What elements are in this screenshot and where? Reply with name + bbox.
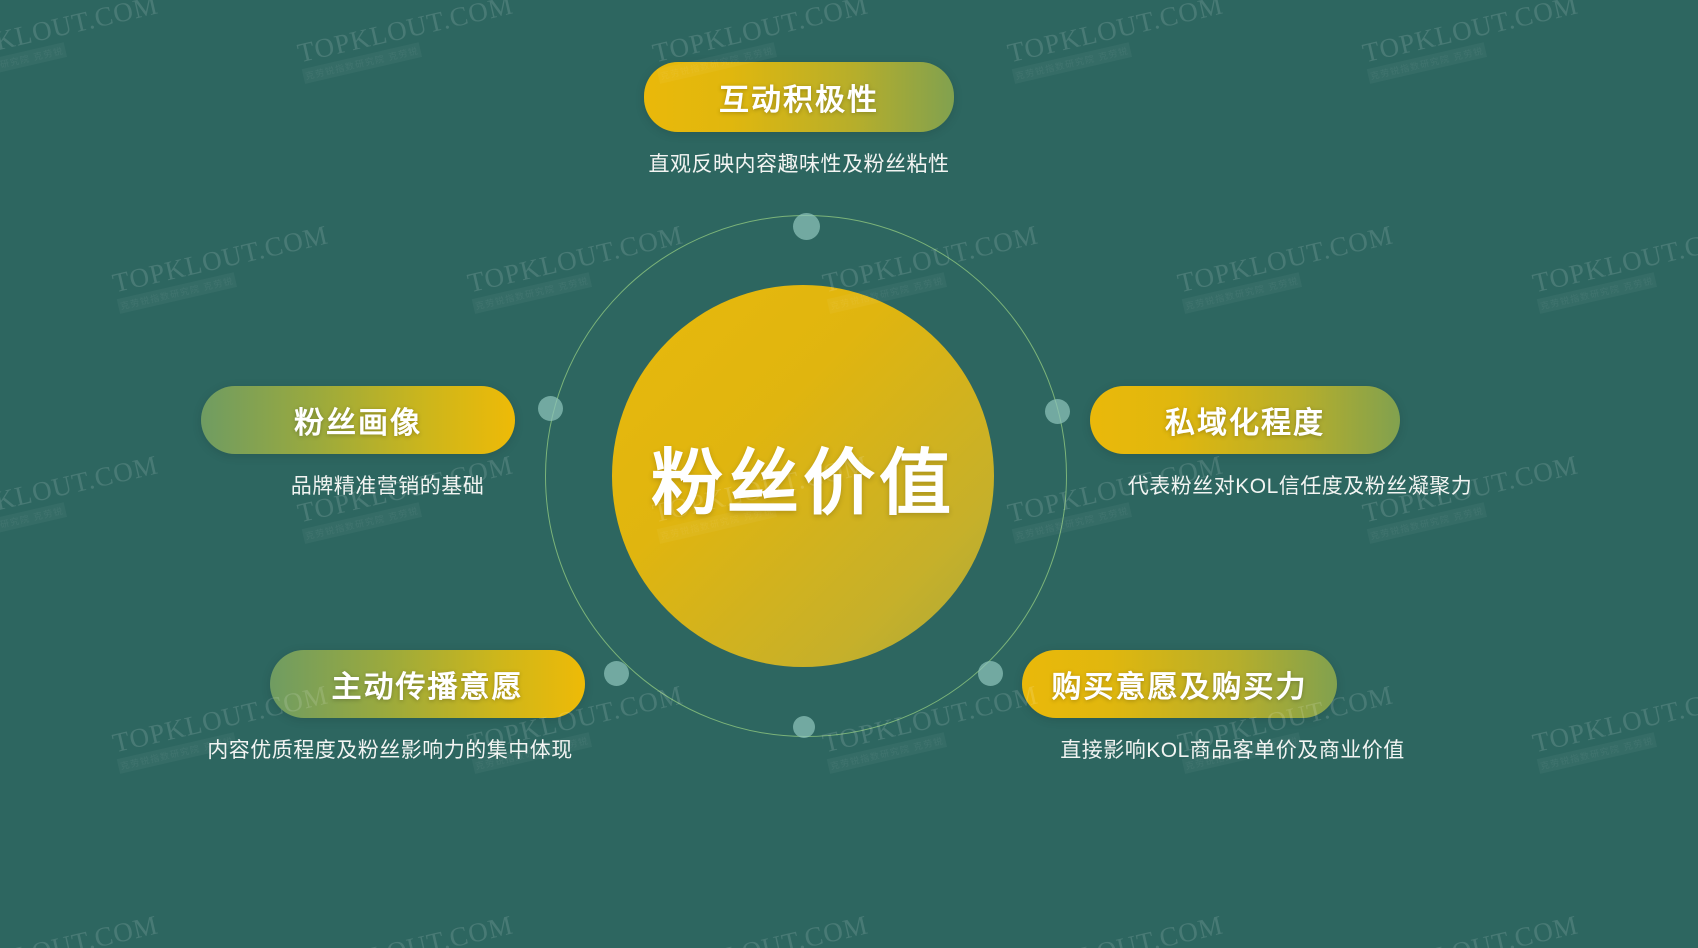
watermark-main-text: TOPKLOUT.COM xyxy=(650,0,871,68)
watermark-topklout: TOPKLOUT.COM克劳锐指数研究院 克劳锐 xyxy=(1005,910,1230,948)
watermark-main-text: TOPKLOUT.COM xyxy=(1360,910,1581,948)
watermark-main-text: TOPKLOUT.COM xyxy=(1175,220,1396,297)
watermark-sub-text: 克劳锐指数研究院 克劳锐 xyxy=(302,503,422,545)
node-fan-profile-label: 粉丝画像 xyxy=(294,398,422,442)
watermark-main-text: TOPKLOUT.COM xyxy=(0,0,161,68)
node-private-domain-caption: 代表粉丝对KOL信任度及粉丝凝聚力 xyxy=(1090,470,1510,500)
watermark-sub-text: 克劳锐指数研究院 克劳锐 xyxy=(1367,503,1487,545)
node-private-domain: 私域化程度 代表粉丝对KOL信任度及粉丝凝聚力 xyxy=(1090,386,1510,500)
node-interaction-pill[interactable]: 互动积极性 xyxy=(644,62,954,132)
watermark-topklout: TOPKLOUT.COM克劳锐指数研究院 克劳锐 xyxy=(1360,910,1585,948)
infographic-canvas: 粉丝价值 互动积极性 直观反映内容趣味性及粉丝粘性 粉丝画像 品牌精准营销的基础… xyxy=(0,0,1698,948)
watermark-topklout: TOPKLOUT.COM克劳锐指数研究院 克劳锐 xyxy=(1530,220,1698,314)
orbit-dot-top xyxy=(793,213,820,240)
node-interaction-label: 互动积极性 xyxy=(719,75,879,119)
node-spread-willingness-pill[interactable]: 主动传播意愿 xyxy=(270,650,585,718)
node-spread-willingness-label: 主动传播意愿 xyxy=(332,662,524,706)
orbit-dot-bottom-right xyxy=(978,661,1003,686)
watermark-main-text: TOPKLOUT.COM xyxy=(0,450,161,527)
watermark-topklout: TOPKLOUT.COM克劳锐指数研究院 克劳锐 xyxy=(0,450,165,544)
center-node-label: 粉丝价值 xyxy=(651,424,955,529)
watermark-sub-text: 克劳锐指数研究院 克劳锐 xyxy=(117,273,237,315)
node-interaction: 互动积极性 直观反映内容趣味性及粉丝粘性 xyxy=(442,62,1156,178)
watermark-main-text: TOPKLOUT.COM xyxy=(650,910,871,948)
watermark-sub-text: 克劳锐指数研究院 克劳锐 xyxy=(1367,43,1487,85)
node-purchase-power-caption: 直接影响KOL商品客单价及商业价值 xyxy=(1015,734,1450,764)
node-purchase-power-pill[interactable]: 购买意愿及购买力 xyxy=(1022,650,1337,718)
node-private-domain-pill[interactable]: 私域化程度 xyxy=(1090,386,1400,454)
node-spread-willingness: 主动传播意愿 内容优质程度及粉丝影响力的集中体现 xyxy=(140,650,640,764)
watermark-main-text: TOPKLOUT.COM xyxy=(0,910,161,948)
node-interaction-caption: 直观反映内容趣味性及粉丝粘性 xyxy=(442,148,1156,178)
node-spread-willingness-caption: 内容优质程度及粉丝影响力的集中体现 xyxy=(140,734,640,764)
node-purchase-power-label: 购买意愿及购买力 xyxy=(1052,662,1308,706)
watermark-main-text: TOPKLOUT.COM xyxy=(110,220,331,297)
watermark-main-text: TOPKLOUT.COM xyxy=(1530,220,1698,297)
watermark-sub-text: 克劳锐指数研究院 克劳锐 xyxy=(0,503,67,545)
watermark-topklout: TOPKLOUT.COM克劳锐指数研究院 克劳锐 xyxy=(1530,680,1698,774)
watermark-topklout: TOPKLOUT.COM克劳锐指数研究院 克劳锐 xyxy=(110,220,335,314)
node-fan-profile-pill[interactable]: 粉丝画像 xyxy=(201,386,515,454)
watermark-topklout: TOPKLOUT.COM克劳锐指数研究院 克劳锐 xyxy=(650,910,875,948)
watermark-main-text: TOPKLOUT.COM xyxy=(295,0,516,68)
watermark-sub-text: 克劳锐指数研究院 克劳锐 xyxy=(302,43,422,85)
node-fan-profile-caption: 品牌精准营销的基础 xyxy=(160,470,615,500)
watermark-topklout: TOPKLOUT.COM克劳锐指数研究院 克劳锐 xyxy=(1175,220,1400,314)
center-node[interactable]: 粉丝价值 xyxy=(612,285,994,667)
watermark-sub-text: 克劳锐指数研究院 克劳锐 xyxy=(1537,273,1657,315)
watermark-topklout: TOPKLOUT.COM克劳锐指数研究院 克劳锐 xyxy=(295,910,520,948)
watermark-sub-text: 克劳锐指数研究院 克劳锐 xyxy=(472,273,592,315)
watermark-sub-text: 克劳锐指数研究院 克劳锐 xyxy=(827,733,947,775)
node-purchase-power: 购买意愿及购买力 直接影响KOL商品客单价及商业价值 xyxy=(1015,650,1450,764)
node-private-domain-label: 私域化程度 xyxy=(1165,398,1325,442)
watermark-main-text: TOPKLOUT.COM xyxy=(295,910,516,948)
orbit-dot-bottom xyxy=(793,716,815,738)
watermark-sub-text: 克劳锐指数研究院 克劳锐 xyxy=(0,43,67,85)
watermark-topklout: TOPKLOUT.COM克劳锐指数研究院 克劳锐 xyxy=(0,0,165,84)
watermark-topklout: TOPKLOUT.COM克劳锐指数研究院 克劳锐 xyxy=(0,910,165,948)
watermark-main-text: TOPKLOUT.COM xyxy=(1005,910,1226,948)
watermark-main-text: TOPKLOUT.COM xyxy=(1360,0,1581,68)
watermark-topklout: TOPKLOUT.COM克劳锐指数研究院 克劳锐 xyxy=(1360,0,1585,84)
watermark-main-text: TOPKLOUT.COM xyxy=(1005,0,1226,68)
orbit-dot-right xyxy=(1045,399,1070,424)
watermark-main-text: TOPKLOUT.COM xyxy=(1530,680,1698,757)
watermark-sub-text: 克劳锐指数研究院 克劳锐 xyxy=(1537,733,1657,775)
node-fan-profile: 粉丝画像 品牌精准营销的基础 xyxy=(160,386,615,500)
watermark-sub-text: 克劳锐指数研究院 克劳锐 xyxy=(1182,273,1302,315)
